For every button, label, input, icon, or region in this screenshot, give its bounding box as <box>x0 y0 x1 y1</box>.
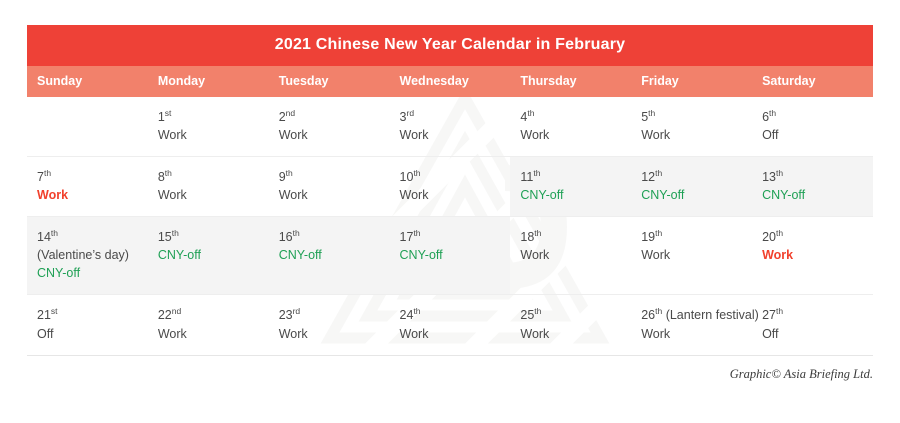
calendar-day-cell[interactable]: 24thWork <box>390 295 511 355</box>
day-ordinal-suffix: th <box>165 168 172 178</box>
calendar-day-cell[interactable]: 2ndWork <box>269 97 390 157</box>
day-status: Work <box>520 126 623 144</box>
calendar-title-row: 2021 Chinese New Year Calendar in Februa… <box>27 25 873 66</box>
day-status: Work <box>400 325 503 343</box>
day-ordinal-suffix: th <box>776 228 783 238</box>
calendar-day-cell[interactable]: 4thWork <box>510 97 631 157</box>
day-ordinal-suffix: th <box>533 168 540 178</box>
day-number: 3rd <box>400 108 503 126</box>
day-ordinal-suffix: th <box>648 107 655 117</box>
page-title: 2021 Chinese New Year Calendar in Februa… <box>27 25 873 66</box>
calendar-week-row: 7thWork8thWork9thWork10thWork11thCNY-off… <box>27 156 873 216</box>
day-number: 5th <box>641 108 744 126</box>
weekday-friday: Friday <box>631 66 752 97</box>
day-number: 17th <box>400 228 503 246</box>
weekday-thursday: Thursday <box>510 66 631 97</box>
day-status: Work <box>520 246 623 264</box>
calendar-day-cell[interactable]: 16thCNY-off <box>269 217 390 295</box>
day-ordinal-suffix: th <box>172 228 179 238</box>
calendar-body: 1stWork2ndWork3rdWork4thWork5thWork6thOf… <box>27 97 873 356</box>
day-ordinal-suffix: nd <box>286 107 295 117</box>
day-status: Work <box>520 325 623 343</box>
day-status: Work <box>641 246 744 264</box>
calendar-day-cell[interactable]: 11thCNY-off <box>510 156 631 216</box>
day-status: Off <box>762 126 865 144</box>
calendar-day-cell[interactable]: 21stOff <box>27 295 148 355</box>
day-number: 15th <box>158 228 261 246</box>
calendar-day-cell[interactable]: 3rdWork <box>390 97 511 157</box>
day-status: CNY-off <box>762 186 865 204</box>
day-ordinal-suffix: th <box>776 168 783 178</box>
day-number: 25th <box>520 306 623 324</box>
calendar-day-cell[interactable]: 10thWork <box>390 156 511 216</box>
day-number: 4th <box>520 108 623 126</box>
day-status: Work <box>279 325 382 343</box>
weekday-saturday: Saturday <box>752 66 873 97</box>
day-ordinal-suffix: th <box>413 228 420 238</box>
calendar-day-cell[interactable]: 17thCNY-off <box>390 217 511 295</box>
calendar-day-cell[interactable]: 1stWork <box>148 97 269 157</box>
day-inline-note: (Lantern festival) <box>662 308 759 322</box>
day-number: 24th <box>400 306 503 324</box>
day-status: CNY-off <box>400 246 503 264</box>
day-ordinal-suffix: th <box>776 306 783 316</box>
day-ordinal-suffix: th <box>293 228 300 238</box>
day-ordinal-suffix: th <box>527 107 534 117</box>
day-ordinal-suffix: th <box>769 107 776 117</box>
day-number: 20th <box>762 228 865 246</box>
day-status: CNY-off <box>37 264 140 282</box>
day-number: 23rd <box>279 306 382 324</box>
day-number: 14th <box>37 228 140 246</box>
day-number: 18th <box>520 228 623 246</box>
day-number: 10th <box>400 168 503 186</box>
day-ordinal-suffix: nd <box>172 306 181 316</box>
day-status: Work <box>279 186 382 204</box>
calendar-day-cell[interactable]: 9thWork <box>269 156 390 216</box>
calendar-day-cell[interactable]: 25thWork <box>510 295 631 355</box>
day-ordinal-suffix: th <box>534 306 541 316</box>
day-status: CNY-off <box>520 186 623 204</box>
calendar-page: 2021 Chinese New Year Calendar in Februa… <box>0 0 900 423</box>
calendar-week-row: 1stWork2ndWork3rdWork4thWork5thWork6thOf… <box>27 97 873 157</box>
day-status: Work <box>641 325 744 343</box>
day-number: 9th <box>279 168 382 186</box>
day-number: 21st <box>37 306 140 324</box>
day-number: 2nd <box>279 108 382 126</box>
day-status: Work <box>158 186 261 204</box>
day-number: 19th <box>641 228 744 246</box>
day-status: Off <box>37 325 140 343</box>
day-ordinal-suffix: th <box>534 228 541 238</box>
day-ordinal-suffix: rd <box>293 306 301 316</box>
day-status: Work <box>158 126 261 144</box>
calendar-day-cell[interactable]: 5thWork <box>631 97 752 157</box>
day-status: CNY-off <box>158 246 261 264</box>
day-number: 12th <box>641 168 744 186</box>
calendar-week-row: 21stOff22ndWork23rdWork24thWork25thWork2… <box>27 295 873 355</box>
copyright-credit: Graphic© Asia Briefing Ltd. <box>27 356 873 382</box>
weekday-tuesday: Tuesday <box>269 66 390 97</box>
weekday-sunday: Sunday <box>27 66 148 97</box>
day-ordinal-suffix: th <box>51 228 58 238</box>
day-number: 8th <box>158 168 261 186</box>
calendar-day-cell[interactable]: 13thCNY-off <box>752 156 873 216</box>
weekday-header-row: Sunday Monday Tuesday Wednesday Thursday… <box>27 66 873 97</box>
day-number: 6th <box>762 108 865 126</box>
day-ordinal-suffix: th <box>286 168 293 178</box>
day-number: 26th (Lantern festival) <box>641 306 744 324</box>
day-status: Work <box>279 126 382 144</box>
day-number: 16th <box>279 228 382 246</box>
day-ordinal-suffix: rd <box>406 107 414 117</box>
day-number: 1st <box>158 108 261 126</box>
day-status: Work <box>641 126 744 144</box>
weekday-monday: Monday <box>148 66 269 97</box>
calendar-day-cell[interactable]: 6thOff <box>752 97 873 157</box>
day-ordinal-suffix: th <box>44 168 51 178</box>
calendar-day-cell[interactable]: 27thOff <box>752 295 873 355</box>
calendar-day-cell[interactable]: 14th(Valentine’s day)CNY-off <box>27 217 148 295</box>
calendar-table: 2021 Chinese New Year Calendar in Februa… <box>27 25 873 356</box>
calendar-empty-cell <box>27 97 148 157</box>
day-ordinal-suffix: th <box>655 228 662 238</box>
calendar-day-cell[interactable]: 8thWork <box>148 156 269 216</box>
day-number: 11th <box>520 168 623 186</box>
calendar-day-cell[interactable]: 12thCNY-off <box>631 156 752 216</box>
day-number: 7th <box>37 168 140 186</box>
day-status: Work <box>158 325 261 343</box>
calendar-week-row: 14th(Valentine’s day)CNY-off15thCNY-off1… <box>27 217 873 295</box>
day-ordinal-suffix: th <box>413 306 420 316</box>
day-note: (Valentine’s day) <box>37 246 140 264</box>
calendar-day-cell[interactable]: 19thWork <box>631 217 752 295</box>
day-status: Work <box>762 246 865 264</box>
calendar-day-cell[interactable]: 20thWork <box>752 217 873 295</box>
calendar-day-cell[interactable]: 26th (Lantern festival)Work <box>631 295 752 355</box>
day-status: Off <box>762 325 865 343</box>
calendar-day-cell[interactable]: 23rdWork <box>269 295 390 355</box>
calendar-day-cell[interactable]: 15thCNY-off <box>148 217 269 295</box>
day-ordinal-suffix: th <box>655 168 662 178</box>
calendar-day-cell[interactable]: 7thWork <box>27 156 148 216</box>
day-status: Work <box>400 126 503 144</box>
calendar-day-cell[interactable]: 18thWork <box>510 217 631 295</box>
day-number: 22nd <box>158 306 261 324</box>
day-number: 13th <box>762 168 865 186</box>
day-number: 27th <box>762 306 865 324</box>
weekday-wednesday: Wednesday <box>390 66 511 97</box>
day-status: Work <box>37 186 140 204</box>
day-status: Work <box>400 186 503 204</box>
day-ordinal-suffix: st <box>51 306 58 316</box>
day-status: CNY-off <box>641 186 744 204</box>
day-ordinal-suffix: st <box>165 107 172 117</box>
calendar-day-cell[interactable]: 22ndWork <box>148 295 269 355</box>
day-status: CNY-off <box>279 246 382 264</box>
day-ordinal-suffix: th <box>413 168 420 178</box>
